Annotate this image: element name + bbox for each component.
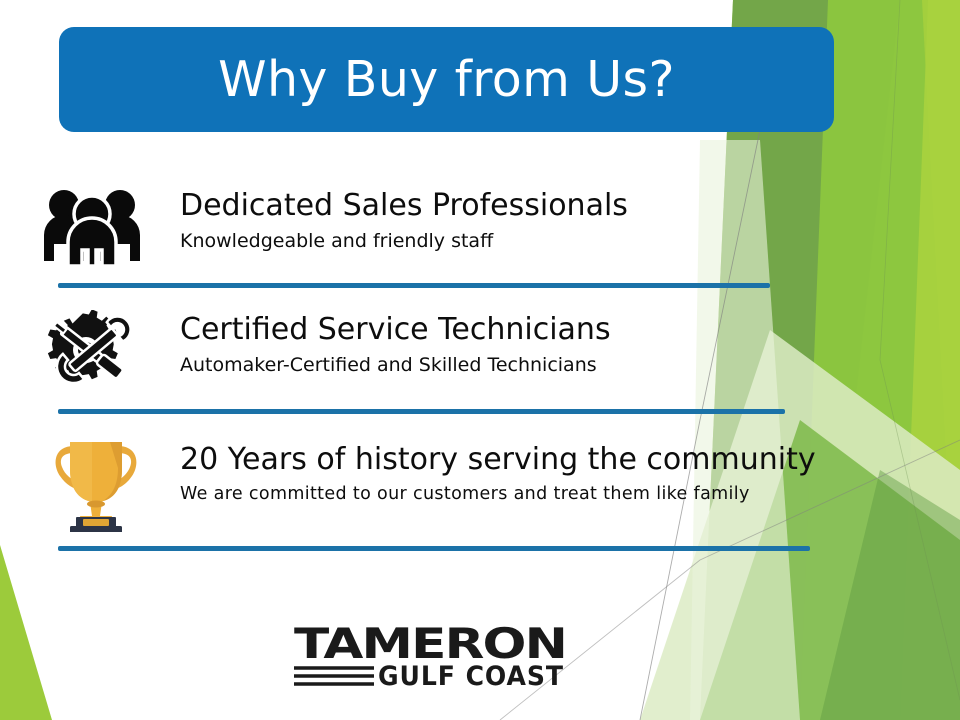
people-group-icon: [40, 186, 144, 271]
feature-row-3: 20 Years of history serving the communit…: [40, 432, 840, 537]
wrench-gear-tools-icon: [40, 310, 144, 399]
logo-secondary-text: GULF COAST: [378, 661, 564, 692]
green-shape-right-sliver: [900, 0, 960, 720]
divider-2: [58, 409, 785, 414]
feature-heading: Certified Service Technicians: [180, 314, 611, 346]
green-shape-dark-triangle: [820, 470, 960, 720]
slide-canvas: Why Buy from Us? Dedicated Sales Profess…: [0, 0, 960, 720]
feature-heading: 20 Years of history serving the communit…: [180, 444, 816, 476]
slide-title-bar: Why Buy from Us?: [59, 27, 834, 132]
feature-row-2: Certified Service Technicians Automaker-…: [40, 310, 820, 405]
feature-row-2-text: Certified Service Technicians Automaker-…: [180, 314, 611, 375]
green-wedge-bottom-left: [0, 545, 52, 720]
page-title: Why Buy from Us?: [218, 55, 675, 104]
tameron-gulf-coast-logo: TAMERON GULF COAST: [294, 622, 566, 694]
feature-subtext: We are committed to our customers and tr…: [180, 485, 816, 504]
hairline-right: [880, 0, 960, 700]
feature-subtext: Knowledgeable and friendly staff: [180, 231, 628, 252]
feature-subtext: Automaker-Certified and Skilled Technici…: [180, 355, 611, 376]
feature-row-3-text: 20 Years of history serving the communit…: [180, 444, 816, 504]
divider-3: [58, 546, 810, 551]
trophy-icon: [48, 432, 144, 537]
feature-row-1-text: Dedicated Sales Professionals Knowledgea…: [180, 190, 628, 251]
feature-row-1: Dedicated Sales Professionals Knowledgea…: [40, 186, 800, 281]
feature-heading: Dedicated Sales Professionals: [180, 190, 628, 222]
logo-speed-lines: [294, 668, 374, 684]
divider-1: [58, 283, 770, 288]
